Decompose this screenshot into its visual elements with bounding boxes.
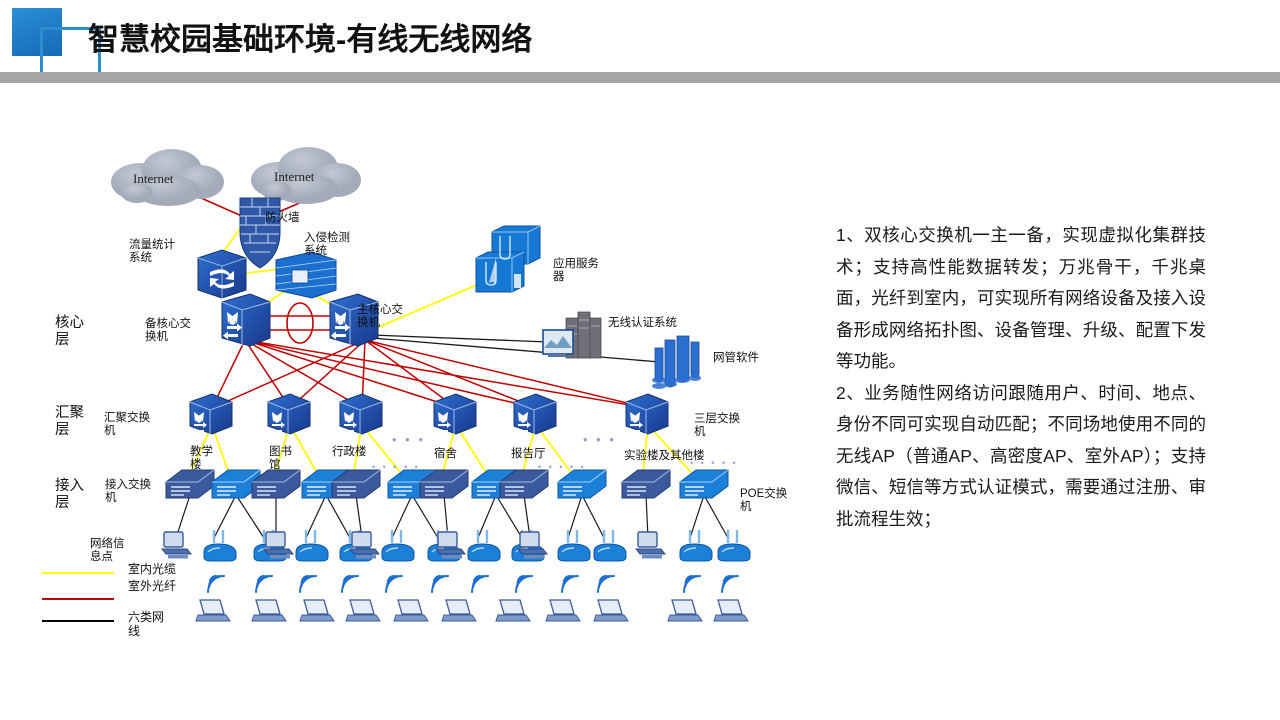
building-label-1: 教学 楼 <box>190 446 213 472</box>
slide-root: 智慧校园基础环境-有线无线网络 1、双核心交换机一主一备，实现虚拟化集群技术；支… <box>0 0 1280 720</box>
ids-label: 入侵检测 系统 <box>304 232 350 258</box>
building-label-3: 行政楼 <box>332 446 367 459</box>
building-label-2: 图书 馆 <box>269 446 292 472</box>
aggregation-role-label: 汇聚交换 机 <box>104 412 150 438</box>
nms-shape <box>652 336 701 389</box>
header-divider-bar <box>0 72 1280 83</box>
topology-connections <box>0 90 830 670</box>
legend-label-cat6: 六类网 线 <box>128 611 164 639</box>
firewall-label: 防火墙 <box>265 212 300 225</box>
aggregation-ellipsis-1: • • • <box>392 432 425 447</box>
description-paragraph-2: 2、业务随性网络访问跟随用户、时间、地点、身份不同可实现自动匹配；不同场地使用不… <box>836 378 1206 536</box>
endpoint-shapes <box>162 530 750 561</box>
page-title: 智慧校园基础环境-有线无线网络 <box>88 14 532 59</box>
backup-core-switch-label: 备核心交 换机 <box>145 318 191 344</box>
description-paragraph-1: 1、双核心交换机一主一备，实现虚拟化集群技术；支持高性能数据转发；万兆骨干，千兆… <box>836 220 1206 378</box>
description-panel: 1、双核心交换机一主一备，实现虚拟化集群技术；支持高性能数据转发；万兆骨干，千兆… <box>836 220 1206 535</box>
layer-label-access: 接入 层 <box>55 478 84 511</box>
main-core-switch-label: 主核心交 换机 <box>357 304 403 330</box>
wireless-auth-shape <box>543 312 601 358</box>
legend-line-indoor-cable <box>42 572 114 574</box>
network-topology-diagram: Internet Internet 防火墙 流量统计 系统 入侵检测 系统 核心… <box>0 90 830 670</box>
ids-shape <box>276 252 336 298</box>
access-switch-shapes <box>166 470 728 498</box>
l3-switch-label: 三层交换 机 <box>694 413 740 439</box>
wireless-auth-label: 无线认证系统 <box>608 317 677 330</box>
layer-label-core: 核心 层 <box>55 315 84 348</box>
laptop-icons <box>196 600 748 621</box>
nms-label: 网管软件 <box>713 352 759 365</box>
legend-line-cat6 <box>42 620 114 622</box>
legend-line-outdoor-fiber <box>42 598 114 600</box>
legend-label-outdoor-fiber: 室外光纤 <box>128 580 176 594</box>
traffic-stats-label: 流量统计 系统 <box>129 239 175 265</box>
access-role-label: 接入交换 机 <box>105 479 151 505</box>
building-label-4: 宿舍 <box>434 448 457 461</box>
app-server-shape <box>476 226 540 292</box>
access-ellipsis-3: • • • • • <box>690 458 738 468</box>
access-ellipsis-2: • • • • • <box>538 462 586 472</box>
legend-label-indoor-cable: 室内光缆 <box>128 563 176 577</box>
cloud-label-internet-1: Internet <box>133 172 195 187</box>
cloud-label-internet-2: Internet <box>274 170 336 185</box>
building-label-5: 报告厅 <box>511 448 546 461</box>
app-server-label: 应用服务 器 <box>553 258 599 284</box>
wifi-signal-icons <box>208 576 738 592</box>
router-shape <box>198 250 246 298</box>
poe-switch-label: POE交换 机 <box>740 488 787 514</box>
backup-core-switch-shape <box>222 294 270 346</box>
info-point-label: 网络信 息点 <box>90 538 125 564</box>
aggregation-ellipsis-2: • • • <box>583 432 616 447</box>
layer-label-aggregation: 汇聚 层 <box>55 405 84 438</box>
access-ellipsis-1: • • • • • <box>372 462 420 472</box>
